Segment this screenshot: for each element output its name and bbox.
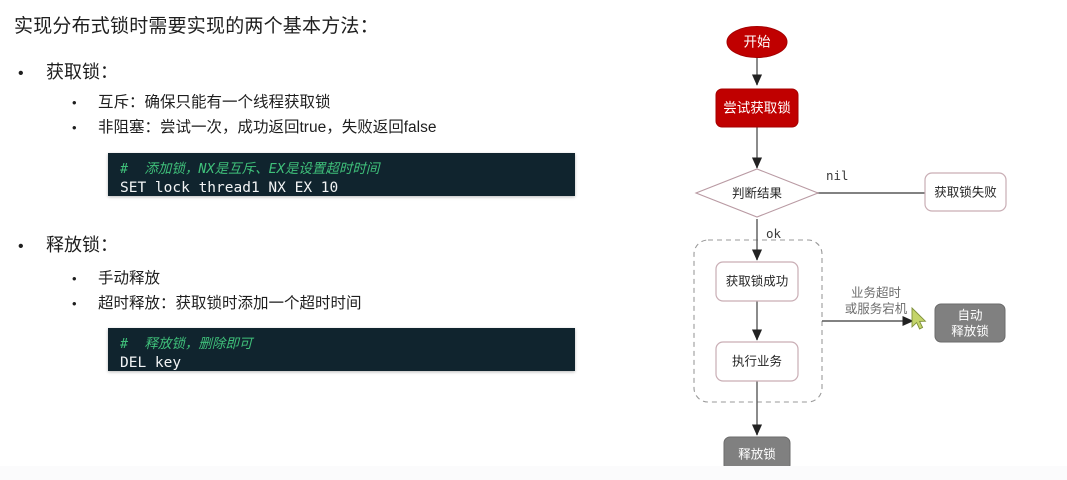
bullet-dot-icon: •: [72, 293, 98, 315]
node-auto-release[interactable]: 自动 释放锁: [935, 304, 1005, 342]
edge-label-nil: nil: [826, 168, 849, 183]
node-release-lock-label: 释放锁: [738, 446, 776, 461]
bullet-dot-icon: •: [72, 92, 98, 114]
subbullet-mutex: •互斥：确保只能有一个线程获取锁: [72, 92, 331, 114]
edge-label-timeout-2: 或服务宕机: [845, 301, 908, 316]
bullet-dot-icon: •: [72, 117, 98, 139]
mouse-cursor-icon: [912, 308, 925, 329]
bullet-acquire-lock-label: 获取锁：: [46, 62, 118, 82]
node-decision-label: 判断结果: [732, 185, 783, 200]
subbullet-manual-release: •手动释放: [72, 268, 160, 290]
bullet-dot-icon: •: [72, 268, 98, 290]
subbullet-manual-release-label: 手动释放: [98, 270, 160, 287]
code-command-acquire: SET lock thread1 NX EX 10: [108, 179, 575, 198]
subbullet-timeout-release: •超时释放：获取锁时添加一个超时时间: [72, 293, 362, 315]
bullet-release-lock: •释放锁：: [18, 233, 118, 259]
node-acquire-success-label: 获取锁成功: [726, 273, 789, 288]
node-decision[interactable]: 判断结果: [696, 169, 818, 217]
subbullet-nonblocking: •非阻塞：尝试一次，成功返回true，失败返回false: [72, 117, 436, 139]
code-block-release: # 释放锁，删除即可 DEL key: [108, 328, 575, 371]
node-auto-release-label-2: 释放锁: [951, 323, 989, 338]
node-execute-business-label: 执行业务: [732, 353, 782, 368]
bullet-dot-icon: •: [18, 62, 46, 86]
bottom-band: [0, 466, 1067, 480]
flowchart: 开始 尝试获取锁 判断结果 获取锁失败 获取锁成功 执行业务: [660, 0, 1067, 480]
page-title: 实现分布式锁时需要实现的两个基本方法：: [14, 14, 379, 40]
code-comment-release: # 释放锁，删除即可: [108, 335, 575, 354]
node-execute-business[interactable]: 执行业务: [716, 342, 798, 381]
node-start[interactable]: 开始: [727, 27, 787, 58]
node-acquire-fail[interactable]: 获取锁失败: [925, 173, 1006, 211]
node-acquire-success[interactable]: 获取锁成功: [716, 262, 798, 301]
bullet-release-lock-label: 释放锁：: [46, 235, 118, 255]
subbullet-mutex-label: 互斥：确保只能有一个线程获取锁: [98, 94, 331, 111]
code-comment-acquire: # 添加锁，NX是互斥、EX是设置超时时间: [108, 160, 575, 179]
subbullet-nonblocking-label: 非阻塞：尝试一次，成功返回true，失败返回false: [98, 119, 436, 136]
subbullet-timeout-release-label: 超时释放：获取锁时添加一个超时时间: [98, 295, 362, 312]
code-command-release: DEL key: [108, 354, 575, 373]
node-auto-release-label-1: 自动: [957, 308, 982, 322]
edge-label-timeout-1: 业务超时: [851, 285, 902, 300]
node-acquire-fail-label: 获取锁失败: [934, 184, 997, 199]
slide-text-pane: 实现分布式锁时需要实现的两个基本方法： •获取锁： •互斥：确保只能有一个线程获…: [0, 0, 660, 480]
node-try-acquire[interactable]: 尝试获取锁: [716, 89, 798, 127]
edge-label-ok: ok: [766, 226, 782, 241]
node-start-label: 开始: [744, 35, 772, 50]
node-try-acquire-label: 尝试获取锁: [723, 101, 791, 116]
bullet-acquire-lock: •获取锁：: [18, 60, 118, 86]
bullet-dot-icon: •: [18, 235, 46, 259]
code-block-acquire: # 添加锁，NX是互斥、EX是设置超时时间 SET lock thread1 N…: [108, 153, 575, 196]
